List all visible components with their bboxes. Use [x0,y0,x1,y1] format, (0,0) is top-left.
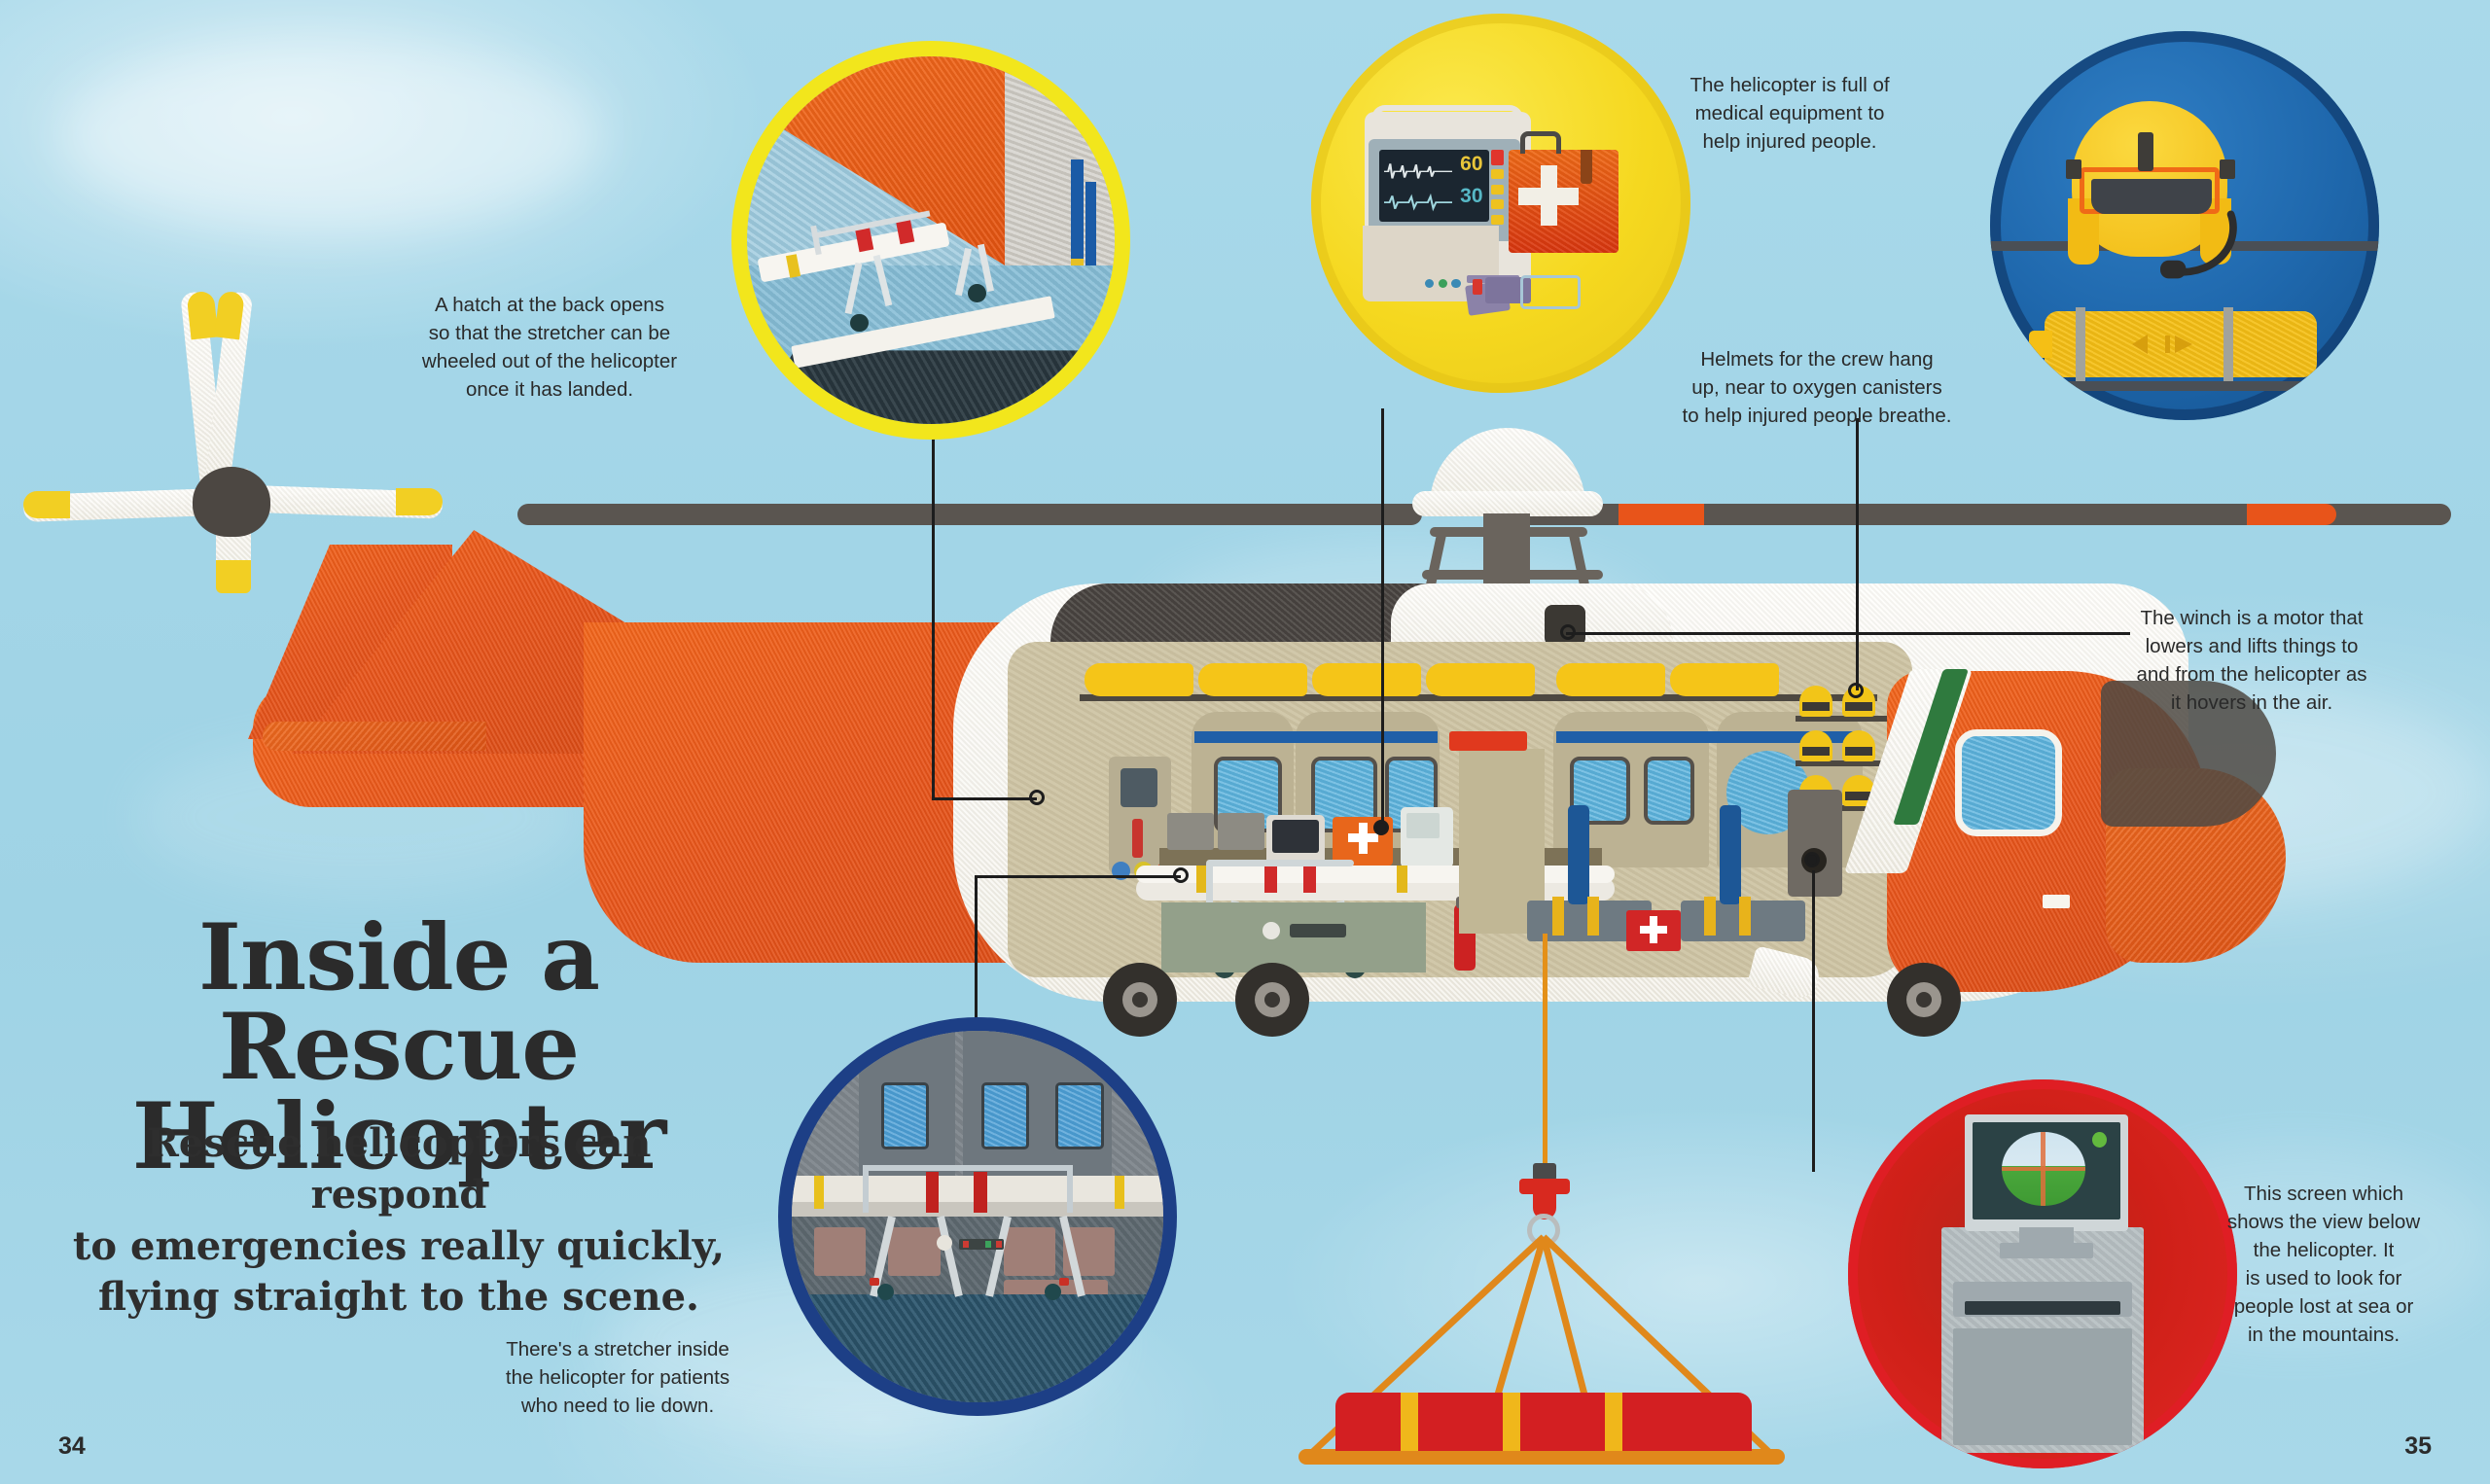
helmet-visor [1845,747,1872,756]
landing-gear-hub-center [1916,992,1932,1007]
inset-helmet-oxygen [1990,31,2379,420]
storage-box [1218,813,1264,850]
helmet-visor [1845,702,1872,711]
first-aid-cross-horizontal [1518,188,1579,204]
stretcher-rail-top [1206,860,1354,866]
stretcher-guard-rail-top [863,1165,1071,1171]
oxygen-canister [1556,663,1665,696]
leader-hatch-vertical [932,418,935,797]
inset-cabin-stretcher [778,1017,1177,1416]
page-title-line-1: Inside a Rescue [198,904,599,1101]
seat-back [1568,805,1589,904]
tail-rotor-mast-tip [216,560,251,593]
tail-rotor-blade-tip [396,488,443,515]
oxygen-canister [1198,663,1307,696]
leader-endpoint-medical [1373,820,1389,835]
cabin-monitor-screen [1272,820,1319,853]
helmet-side-clip [2220,159,2235,179]
console-keyboard [1965,1301,2120,1315]
nose-marking [2043,895,2070,908]
leader-screen-vertical [1812,870,1815,1172]
stored-helmet [1842,730,1875,761]
leader-helmets-vertical [1856,418,1859,690]
rotor-blade-stripe [1618,504,1704,525]
monitor-indicator [1491,169,1503,179]
monitor-alarm-light [1491,150,1503,165]
cabin-window [1644,757,1694,825]
door-rail [1194,731,1438,743]
console-lower-panel [1953,1328,2132,1445]
cabin-floor [792,1294,1163,1402]
bulkhead-warning-stripe [1449,731,1527,751]
stretcher-rail [1206,864,1213,904]
cabin-window [881,1082,930,1149]
ramp-stretcher-wheel [968,284,986,302]
oxygen-canister-valve [2029,331,2052,358]
cloud-decor [58,39,603,233]
stretcher-guard-rail-post [863,1165,869,1214]
leader-winch-horizontal [1566,632,2130,635]
seat-belt [1587,897,1599,936]
winch-control-box [1788,790,1842,897]
storage-box [1167,813,1214,850]
first-aid-case-latch [1581,150,1592,184]
rotor-support-frame [1430,527,1587,537]
leader-endpoint-winch [1560,624,1576,640]
canister-arrow-icon [2126,331,2204,358]
oxygen-canister [1426,663,1535,696]
defib-button [1473,279,1482,295]
screen-status-blip [2092,1132,2107,1148]
tail-plane [263,722,486,751]
leader-hatch-horizontal [932,797,1037,800]
helmet-side-clip [2066,159,2081,179]
rotor-support-frame [1422,570,1603,580]
stretcher-strap [926,1172,940,1213]
ecg-trace-icon [1384,159,1452,185]
oxygen-canister [1670,663,1779,696]
helmet-mount-clip [2138,132,2153,171]
stretcher-strap [814,1176,824,1209]
rescue-basket-floor [1298,1449,1785,1465]
inset-rear-hatch-ramp [731,41,1130,440]
seat-belt [1739,897,1751,936]
leader-stretcher-horizontal [975,875,1181,878]
leader-medical-vertical [1381,408,1384,827]
cabin-window [1055,1082,1104,1149]
helmet-microphone-icon [2138,210,2247,296]
page-number-left: 34 [58,1432,86,1461]
basket-strap [1605,1393,1622,1451]
under-stretcher-cabinet [1161,902,1426,972]
control-indicator [985,1241,991,1249]
tail-rotor-blade-tip [23,491,70,518]
wall-gauge [1132,819,1143,858]
cabin-seat [888,1227,940,1276]
callout-helmets: Helmets for the crew hang up, near to ox… [1671,345,1963,430]
leader-endpoint-stretcher [1173,867,1189,883]
callout-winch: The winch is a motor that lowers and lif… [2120,604,2383,717]
cabinet-gauge [1263,922,1280,939]
first-aid-cross-h [1348,833,1378,842]
callout-stretcher: There's a stretcher inside the helicopte… [477,1335,759,1420]
monitor-handle [1371,105,1523,135]
winch-cable [1543,934,1547,1177]
crosshair-horizontal [2002,1167,2084,1172]
canister-strap [2223,307,2233,381]
canister-strap [2076,307,2085,381]
inset-medical-kit: 60 30 [1311,14,1690,393]
monitor-indicator [1491,215,1503,225]
monitor-indicator [1491,185,1503,194]
helmet-visor [1802,702,1830,711]
main-rotor-blade-left [517,504,1422,525]
medical-bag-cross-h [1640,926,1667,934]
leader-endpoint-hatch [1029,790,1045,805]
basket-strap [1503,1393,1520,1451]
basket-strap [1401,1393,1418,1451]
page-number-right: 35 [2404,1432,2432,1461]
stretcher-wheel-lock [1059,1278,1069,1286]
monitor-indicator [1491,199,1503,209]
seat-belt [1704,897,1716,936]
monitor-stand-base [2000,1243,2093,1258]
page-subtitle: Rescue helicopters can respond to emerge… [58,1118,739,1324]
stretcher-guard-rail-post [1067,1165,1073,1214]
control-indicator [963,1241,969,1249]
wall-screen [1120,768,1157,807]
oxygen-canister [1085,663,1193,696]
oxygen-canister [1312,663,1421,696]
stretcher-strap [1303,866,1316,893]
leader-endpoint-screen [1804,852,1820,867]
helmet-visor [1802,747,1830,756]
defib-status-light [1451,279,1460,288]
monitor-reading-top: 60 [1460,153,1482,176]
pulse-trace-icon [1384,192,1452,213]
ramp-stretcher-wheel [850,314,869,333]
callout-hatch: A hatch at the back opens so that the st… [389,291,710,404]
stretcher-strap [1397,866,1407,893]
helmet-visor [2091,179,2212,214]
defib-cable-loop [1520,275,1581,309]
book-spread: 60 30 [0,0,2490,1484]
rotor-blade-stripe [2247,504,2336,525]
seat-back [1720,805,1741,904]
first-aid-case-handle [1520,131,1562,154]
stretcher-strap [1264,866,1277,893]
callout-screen: This screen which shows the view below t… [2196,1180,2451,1350]
stretcher-strap [974,1172,987,1213]
stretcher-gauge [937,1235,952,1251]
callout-medical-equipment: The helicopter is full of medical equipm… [1654,71,1926,156]
monitor-screen: 60 30 [1379,150,1489,222]
inset-cabin-stretcher-content [792,1031,1163,1402]
cabin-seat [814,1227,866,1276]
stored-helmet [1799,686,1832,717]
leader-endpoint-helmets [1848,683,1864,698]
inset-rear-hatch-content [747,56,1115,424]
landing-gear-hub-center [1132,992,1148,1007]
stretcher-wheel-lock [870,1278,879,1286]
camera-view-circle [2002,1132,2084,1206]
control-indicator [996,1241,1002,1249]
leader-stretcher-vertical [975,875,978,1041]
tail-rotor-blade-tip [187,291,219,340]
cabin-seat [1004,1227,1055,1276]
cabin-window [981,1082,1030,1149]
stored-helmet [1799,730,1832,761]
cockpit-window [1955,729,2062,836]
monitor-reading-bottom: 30 [1460,185,1482,208]
cabinet-control-strip [1290,924,1346,937]
monitor-screen [1973,1122,2120,1219]
oxygen-shelf-rail [2002,381,2367,391]
rescue-basket-body [1335,1393,1752,1451]
inset-search-screen [1848,1079,2237,1468]
vital-signs-screen [1406,813,1440,838]
landing-gear-hub-center [1264,992,1280,1007]
tail-rotor-hub [193,467,270,537]
seat-belt [1552,897,1564,936]
stretcher-strap [1115,1176,1124,1209]
